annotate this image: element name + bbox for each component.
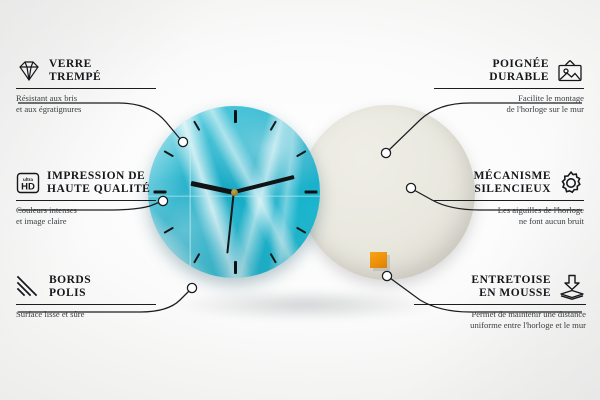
callout-title-line2: TREMPÉ	[49, 71, 101, 84]
callout-subtitle-line1: Les aiguilles de l'horloge	[434, 205, 584, 216]
callout-title-line2: DURABLE	[489, 71, 549, 84]
callout-subtitle-line1: Facilite le montage	[434, 93, 584, 104]
callout-header: ultra HD IMPRESSION DE HAUTE QUALITÉ	[16, 170, 156, 196]
callout-title-line1: IMPRESSION DE	[47, 170, 150, 183]
callout-impression-haute-qualite[interactable]: ultra HD IMPRESSION DE HAUTE QUALITÉ Cou…	[16, 170, 156, 227]
callout-title-line1: ENTRETOISE	[471, 274, 551, 287]
callout-header: POIGNÉE DURABLE	[434, 58, 584, 84]
wall-hanger-icon	[556, 59, 584, 83]
hour-tick	[234, 261, 237, 274]
ultra-hd-icon-main: HD	[21, 182, 35, 193]
callout-subtitle-line1: Couleurs intenses	[16, 205, 156, 216]
callout-divider	[414, 304, 586, 305]
callout-subtitle-line2: uniforme entre l'horloge et le mur	[414, 320, 586, 331]
callout-header: VERRE TREMPÉ	[16, 58, 156, 84]
callout-title-line2: HAUTE QUALITÉ	[47, 183, 150, 196]
ultra-hd-icon: ultra HD	[16, 171, 40, 195]
callout-title-line1: VERRE	[49, 58, 101, 71]
callout-verre-trempe[interactable]: VERRE TREMPÉ Résistant aux bris et aux é…	[16, 58, 156, 115]
callout-bords-polis[interactable]: BORDS POLIS Surface lisse et sûre	[16, 274, 156, 320]
callout-subtitle-line2: et aux égratignures	[16, 104, 156, 115]
product-infographic: VERRE TREMPÉ Résistant aux bris et aux é…	[0, 0, 600, 400]
callout-divider	[16, 304, 156, 305]
callout-subtitle-line2: et image claire	[16, 216, 156, 227]
hands-center-cap	[231, 189, 238, 196]
gear-icon	[558, 170, 584, 196]
callout-divider	[16, 200, 156, 201]
hour-tick	[234, 110, 237, 123]
callout-poignee-durable[interactable]: POIGNÉE DURABLE Facilite le montage de l…	[434, 58, 584, 115]
callout-header: ENTRETOISE EN MOUSSE	[414, 274, 586, 300]
callout-divider	[16, 88, 156, 89]
callout-title-line2: POLIS	[49, 287, 91, 300]
callout-title-line1: POIGNÉE	[489, 58, 549, 71]
callout-header: MÉCANISME SILENCIEUX	[434, 170, 584, 196]
callout-subtitle-line1: Surface lisse et sûre	[16, 309, 156, 320]
callout-divider	[434, 200, 584, 201]
callout-header: BORDS POLIS	[16, 274, 156, 300]
clock-front-view	[148, 106, 320, 278]
callout-title-line2: EN MOUSSE	[471, 287, 551, 300]
callout-entretoise-en-mousse[interactable]: ENTRETOISE EN MOUSSE Permet de maintenir…	[414, 274, 586, 331]
foam-spacer	[370, 252, 387, 268]
callout-divider	[434, 88, 584, 89]
callout-mecanisme-silencieux[interactable]: MÉCANISME SILENCIEUX Les aiguilles de l'…	[434, 170, 584, 227]
callout-subtitle-line1: Permet de maintenir une distance	[414, 309, 586, 320]
foam-spacer-icon	[558, 274, 586, 300]
diamond-icon	[16, 60, 42, 82]
callout-subtitle-line2: ne font aucun bruit	[434, 216, 584, 227]
callout-title-line2: SILENCIEUX	[474, 183, 551, 196]
polished-edges-icon	[16, 275, 42, 299]
callout-subtitle-line1: Résistant aux bris	[16, 93, 156, 104]
callout-title-line1: BORDS	[49, 274, 91, 287]
hour-tick	[305, 191, 318, 194]
callout-subtitle-line2: de l'horloge sur le mur	[434, 104, 584, 115]
callout-title-line1: MÉCANISME	[474, 170, 551, 183]
